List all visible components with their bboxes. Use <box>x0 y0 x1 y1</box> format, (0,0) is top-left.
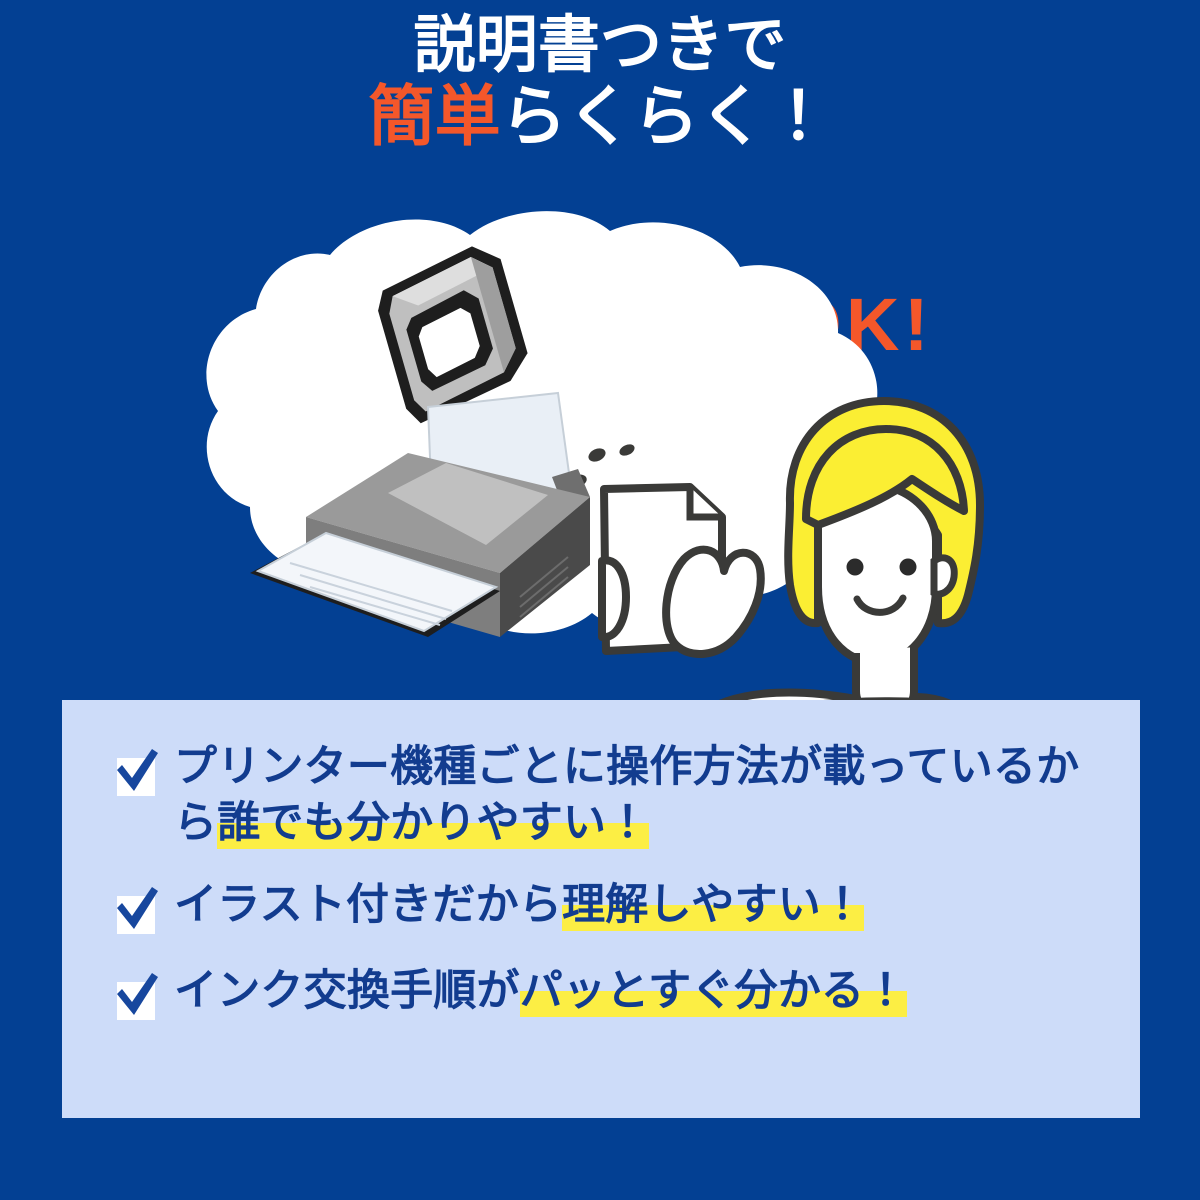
list-item-plain: イラスト付きだから <box>174 881 562 929</box>
list-item-text: インク交換手順がパッとすぐ分かる！ <box>174 964 907 1020</box>
promo-poster: 説明書つきで 簡単らくらく！ OK! <box>0 0 1200 1200</box>
list-item-highlight: パッとすぐ分かる！ <box>520 967 908 1017</box>
list-item-text: イラスト付きだから理解しやすい！ <box>174 878 864 934</box>
thumb <box>602 560 626 637</box>
page-title: 説明書つきで 簡単らくらく！ <box>0 14 1200 151</box>
headline-line-2: 簡単らくらく！ <box>0 83 1200 150</box>
list-item-highlight: 誰でも分かりやすい！ <box>217 799 649 849</box>
check-mark-icon <box>108 968 164 1024</box>
thought-puff-large <box>673 406 727 460</box>
list-item-plain: インク交換手順が <box>174 967 520 1015</box>
list-item: プリンター機種ごとに操作方法が載っているから誰でも分かりやすい！ <box>108 740 1120 852</box>
hand <box>666 550 761 654</box>
list-item: イラスト付きだから理解しやすい！ <box>108 878 1120 938</box>
list-item-text: プリンター機種ごとに操作方法が載っているから誰でも分かりやすい！ <box>174 740 1120 852</box>
ear <box>934 558 954 594</box>
headline-line-1: 説明書つきで <box>0 14 1200 77</box>
list-item: インク交換手順がパッとすぐ分かる！ <box>108 964 1120 1024</box>
eye-right <box>900 559 917 576</box>
list-item-highlight: 理解しやすい！ <box>562 881 864 931</box>
illustration <box>0 205 1200 715</box>
check-mark-icon <box>108 744 164 800</box>
check-mark-icon <box>108 882 164 938</box>
benefits-panel: プリンター機種ごとに操作方法が載っているから誰でも分かりやすい！ イラスト付きだ… <box>62 700 1140 1118</box>
thought-puff-small <box>732 435 772 475</box>
benefits-list: プリンター機種ごとに操作方法が載っているから誰でも分かりやすい！ イラスト付きだ… <box>108 740 1120 1024</box>
headline-accent-word: 簡単 <box>368 79 500 153</box>
eye-left <box>847 559 864 576</box>
headline-line-2-rest: らくらく！ <box>501 79 832 153</box>
